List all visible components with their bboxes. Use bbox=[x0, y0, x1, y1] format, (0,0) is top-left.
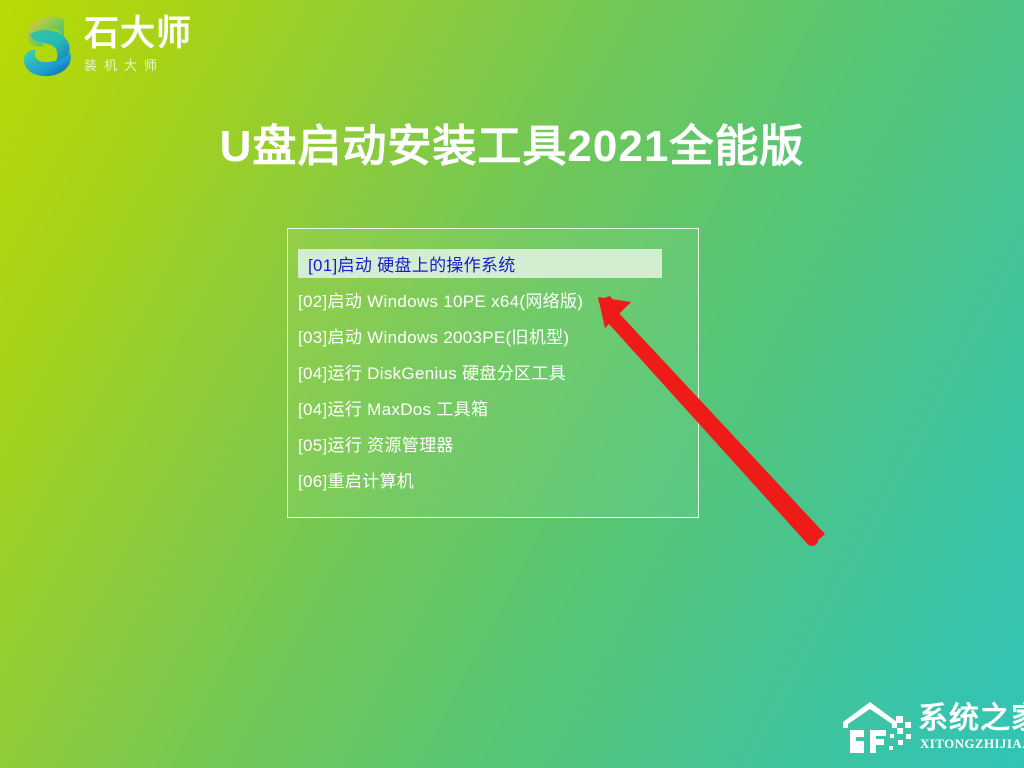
brand-subtitle: 装机大师 bbox=[84, 57, 210, 75]
brand-text: 石大师 装机大师 bbox=[84, 14, 210, 75]
menu-item-03[interactable]: [03]启动 Windows 2003PE(旧机型) bbox=[298, 321, 688, 350]
boot-menu-list: [01]启动 硬盘上的操作系统 [02]启动 Windows 10PE x64(… bbox=[287, 228, 699, 518]
brand-name: 石大师 bbox=[84, 14, 210, 54]
menu-item-label: [05]运行 资源管理器 bbox=[298, 431, 454, 456]
watermark: 系统之家 XITONGZHIJIA.NET bbox=[840, 698, 1016, 760]
page-title: U盘启动安装工具2021全能版 bbox=[0, 110, 1024, 174]
menu-item-label: [01]启动 硬盘上的操作系统 bbox=[308, 251, 516, 276]
menu-item-06[interactable]: [06]重启计算机 bbox=[298, 465, 688, 494]
watermark-name-cn: 系统之家 bbox=[918, 702, 1024, 736]
menu-item-02[interactable]: [02]启动 Windows 10PE x64(网络版) bbox=[298, 285, 688, 314]
menu-item-label: [04]运行 MaxDos 工具箱 bbox=[298, 395, 488, 420]
menu-item-04-maxdos[interactable]: [04]运行 MaxDos 工具箱 bbox=[298, 393, 688, 422]
brand-block: 石大师 装机大师 bbox=[12, 8, 212, 86]
house-pixel-logo-icon bbox=[840, 700, 916, 756]
menu-item-04-diskgenius[interactable]: [04]运行 DiskGenius 硬盘分区工具 bbox=[298, 357, 688, 386]
menu-item-label: [06]重启计算机 bbox=[298, 467, 414, 492]
boot-menu-screen: 石大师 装机大师 U盘启动安装工具2021全能版 [01]启动 硬盘上的操作系统… bbox=[0, 0, 1024, 768]
watermark-name-en: XITONGZHIJIA.NET bbox=[920, 736, 1024, 752]
menu-item-label: [03]启动 Windows 2003PE(旧机型) bbox=[298, 323, 569, 348]
menu-item-label: [04]运行 DiskGenius 硬盘分区工具 bbox=[298, 359, 566, 384]
menu-item-05[interactable]: [05]运行 资源管理器 bbox=[298, 429, 688, 458]
menu-item-01[interactable]: [01]启动 硬盘上的操作系统 bbox=[298, 249, 662, 278]
s-swirl-logo-icon bbox=[18, 12, 80, 80]
menu-item-label: [02]启动 Windows 10PE x64(网络版) bbox=[298, 287, 583, 312]
